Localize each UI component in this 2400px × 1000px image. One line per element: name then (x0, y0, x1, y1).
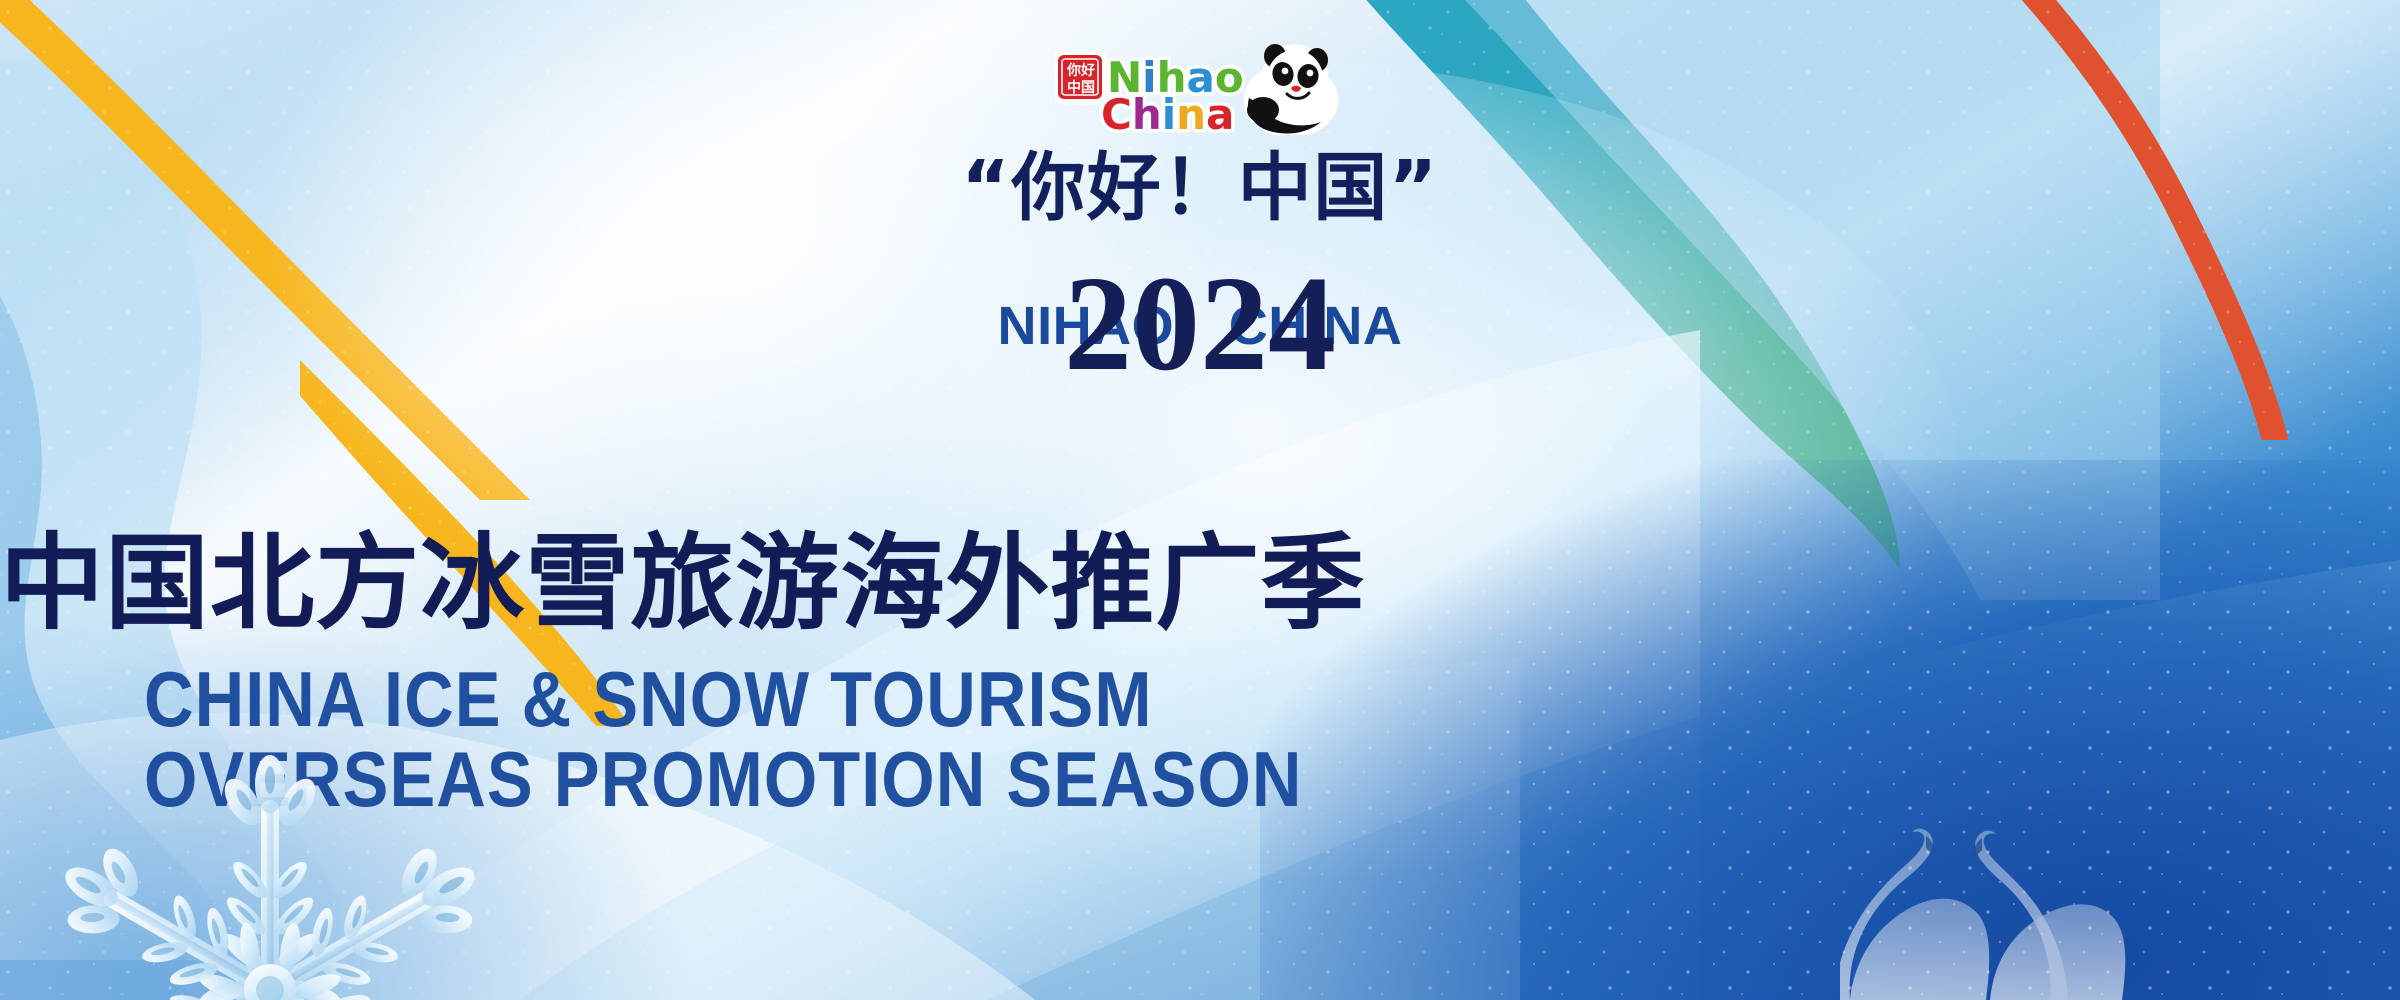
year-wrap: 2024 (0, 256, 2400, 392)
ice-snowflake-crystal (20, 660, 580, 1000)
yellow-ribbon-swoosh (0, 0, 960, 500)
promotional-banner: 你好 中国 Nihao N Nihao China China (0, 0, 2400, 1000)
panda-mascot-icon (1247, 44, 1335, 134)
title-chinese: 中国北方冰雪旅游海外推广季 (0, 528, 2400, 638)
nihao-china-logo[interactable]: 你好 中国 Nihao N Nihao China China (1055, 30, 1355, 135)
seal-badge: 你好 中国 (1058, 55, 1102, 99)
headline-chinese: “你好！中国” (0, 128, 2400, 235)
seal-line-1: 你好 (1066, 62, 1095, 79)
year-label: 2024 (1064, 249, 1336, 399)
swan-pair-heart (1840, 800, 2400, 1000)
seal-line-2: 中国 (1067, 79, 1095, 96)
